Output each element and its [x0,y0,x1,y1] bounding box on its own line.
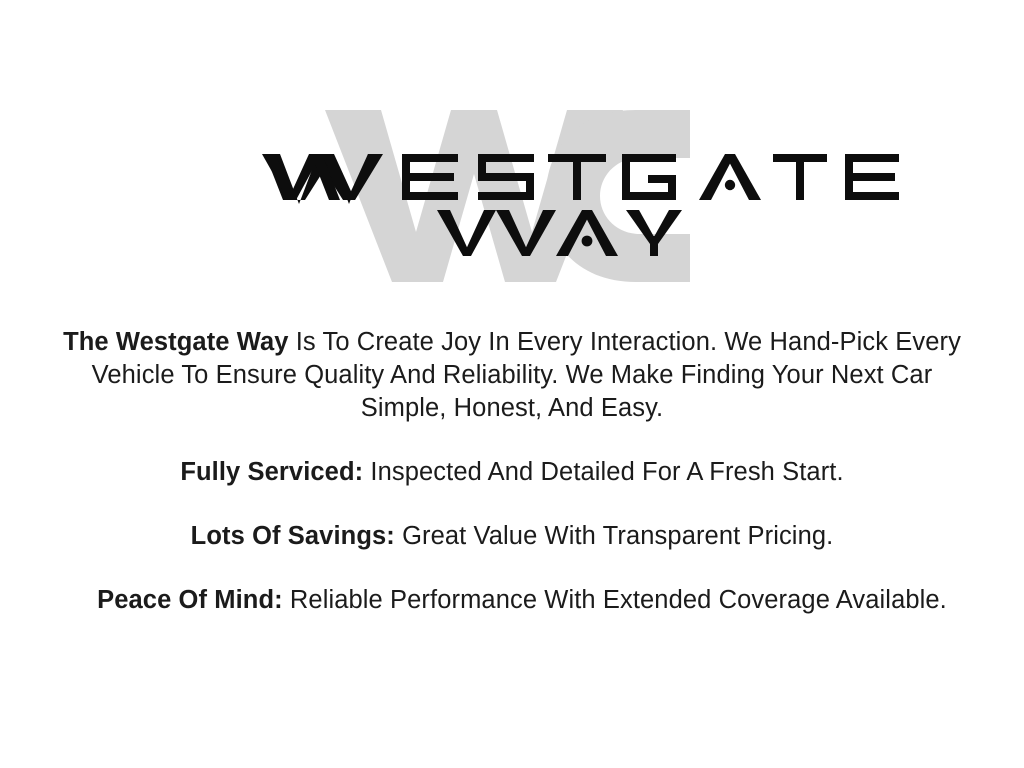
feature-label-fully-serviced: Fully Serviced: [180,458,363,486]
feature-text-peace-of-mind: Reliable Performance With Extended Cover… [283,586,947,614]
feature-text-lots-of-savings: Great Value With Transparent Pricing. [395,522,833,550]
feature-lots-of-savings: Lots Of Savings: Great Value With Transp… [27,520,997,553]
logo-letter-t3 [773,154,827,200]
copy-block: The Westgate Way Is To Create Joy In Eve… [27,326,997,617]
intro-paragraph: The Westgate Way Is To Create Joy In Eve… [47,326,977,425]
feature-text-fully-serviced: Inspected And Detailed For A Fresh Start… [363,458,843,486]
logo-block [0,96,1024,296]
westgate-way-slide: The Westgate Way Is To Create Joy In Eve… [0,0,1024,768]
feature-label-peace-of-mind: Peace Of Mind: [97,586,283,614]
feature-fully-serviced: Fully Serviced: Inspected And Detailed F… [27,456,997,489]
feature-peace-of-mind: Peace Of Mind: Reliable Performance With… [27,584,1017,617]
intro-bold-prefix: The Westgate Way [63,328,288,356]
feature-label-lots-of-savings: Lots Of Savings: [191,522,395,550]
westgate-way-logo [0,96,1024,296]
logo-letter-a1 [699,154,761,200]
logo-letter-g [622,154,676,200]
logo-letter-e2 [845,154,899,200]
logo-letter-s [478,154,534,200]
logo-letter-e1 [402,154,458,200]
